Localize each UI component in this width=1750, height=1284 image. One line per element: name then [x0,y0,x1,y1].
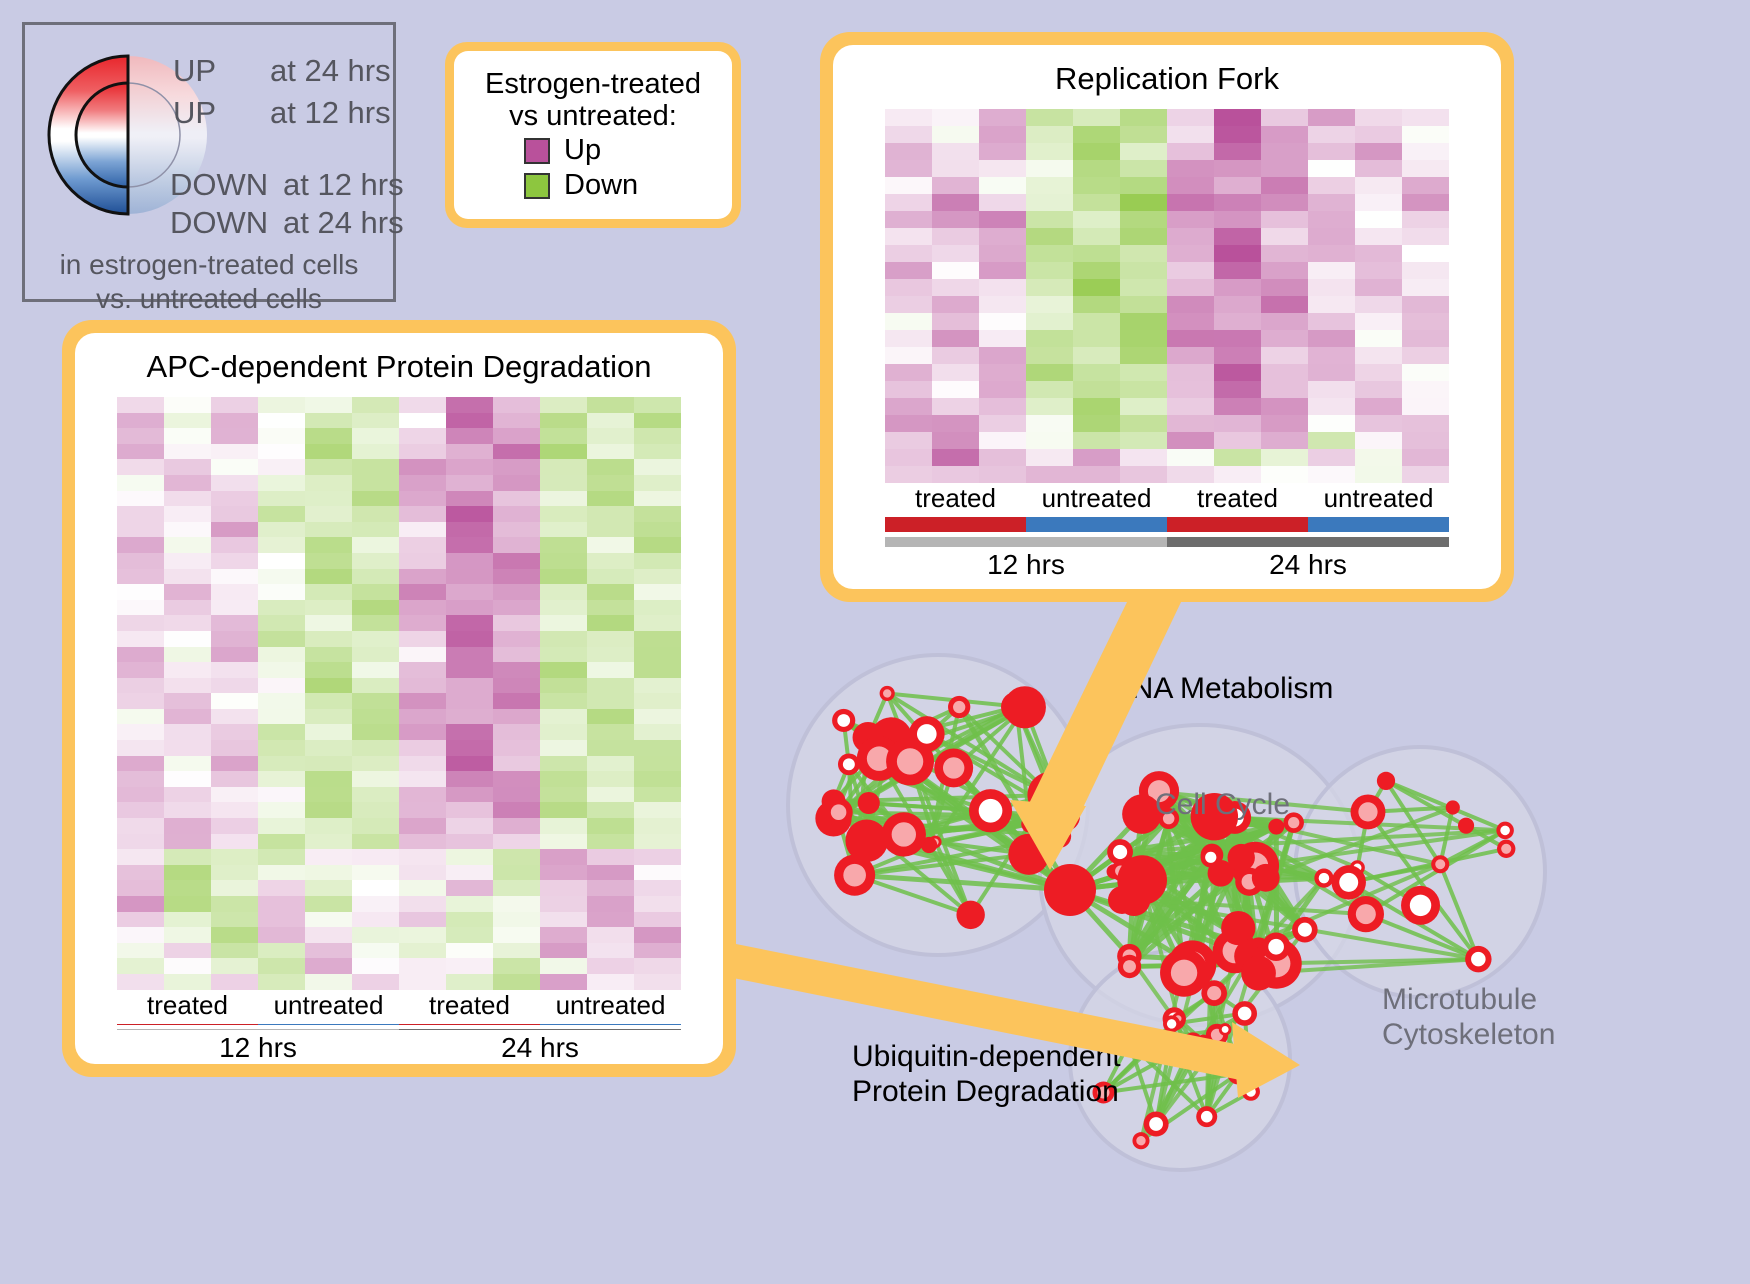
heatmap-cell [493,709,540,725]
heatmap-cell [634,865,681,881]
heatmap-cell [634,740,681,756]
heatmap-cell [446,974,493,990]
heatmap-cell [587,974,634,990]
heatmap-cell [587,647,634,663]
heatmap-cell [446,927,493,943]
heatmap-cell [1026,211,1073,228]
panel-apc-title: APC-dependent Protein Degradation [147,349,652,385]
time-color-bar [399,1029,681,1030]
heatmap-cell [1308,228,1355,245]
heatmap-cell [540,709,587,725]
time-color-bar [1167,537,1449,547]
network-node-core [1167,1019,1176,1028]
heatmap-cell [493,413,540,429]
heatmap-cell [932,245,979,262]
heatmap-cell [352,397,399,413]
heatmap-cell [1167,211,1214,228]
network-node[interactable] [1048,825,1071,848]
network-node[interactable] [1458,818,1474,834]
cluster-label-line: Microtubule [1382,983,1555,1018]
heatmap-cell [446,771,493,787]
heatmap-cell [1026,228,1073,245]
heatmap-cell [399,413,446,429]
heatmap-cell [1073,279,1120,296]
heatmap-cell [446,756,493,772]
heatmap-cell [1073,381,1120,398]
heatmap-cell [1402,143,1449,160]
heatmap-cell [1073,466,1120,483]
legend-row-0-time: at 24 hrs [270,53,391,89]
heatmap-cell [399,491,446,507]
heatmap-cell [540,522,587,538]
heatmap-cell [117,459,164,475]
group-color-bar [540,1024,681,1025]
heatmap-cell [1167,466,1214,483]
heatmap-cell [634,693,681,709]
heatmap-cell [352,584,399,600]
network-node[interactable] [845,820,887,862]
heatmap-cell [399,818,446,834]
heatmap-cell [1120,296,1167,313]
heatmap-cell [258,912,305,928]
network-node-core [1246,1087,1256,1097]
group-label: untreated [1308,483,1449,514]
heatmap-cell [493,849,540,865]
heatmap-cell [493,662,540,678]
heatmap-cell [305,787,352,803]
heatmap-cell [932,126,979,143]
heatmap-cell [932,364,979,381]
heatmap-cell [305,958,352,974]
heatmap-cell [117,569,164,585]
heatmap-cell [885,211,932,228]
heatmap-cell [117,537,164,553]
heatmap-cell [258,709,305,725]
heatmap-cell [587,522,634,538]
heatmap-cell [305,522,352,538]
heatmap-cell [1308,160,1355,177]
heatmap-cell [305,537,352,553]
heatmap-cell [164,756,211,772]
heatmap-cell [932,211,979,228]
heatmap-cell [1402,415,1449,432]
heatmap-cell [164,647,211,663]
heatmap-cell [493,569,540,585]
network-node-core [1123,960,1136,973]
heatmap-cell [117,678,164,694]
heatmap-cell [493,943,540,959]
heatmap-cell [1120,160,1167,177]
heatmap-cell [634,522,681,538]
heatmap-cell [1308,177,1355,194]
heatmap-cell [1026,296,1073,313]
network-node-core [1136,1136,1145,1145]
heatmap-cell [305,849,352,865]
heatmap-cell [634,413,681,429]
heatmap-cell [117,709,164,725]
heatmap-cell [1402,262,1449,279]
heatmap-cell [540,912,587,928]
network-node[interactable] [1377,772,1395,790]
heatmap-cell [258,724,305,740]
heatmap-cell [1402,211,1449,228]
heatmap-cell [1402,432,1449,449]
heatmap-cell [979,194,1026,211]
heatmap-cell [164,771,211,787]
heatmap-cell [540,943,587,959]
heatmap-cell [399,537,446,553]
heatmap-cell [1402,160,1449,177]
cluster-label-line: Cytoskeleton [1382,1018,1555,1053]
heatmap-cell [305,475,352,491]
network-node-core [917,724,937,744]
heatmap-cell [587,896,634,912]
heatmap-cell [399,880,446,896]
heatmap-cell [493,693,540,709]
network-node[interactable] [858,792,880,814]
heatmap-cell [211,802,258,818]
heatmap-cell [1026,432,1073,449]
heatmap-cell [164,522,211,538]
heatmap-cell [1073,330,1120,347]
heatmap-cell [587,428,634,444]
heatmap-cell [1308,347,1355,364]
heatmap-cell [1308,262,1355,279]
network-node-core [892,822,916,846]
heatmap-cell [117,475,164,491]
heatmap-cell [493,631,540,647]
heatmap-cell [117,631,164,647]
heatmap-cell [540,615,587,631]
network-node[interactable] [956,901,984,929]
heatmap-cell [587,615,634,631]
heatmap-cell [1402,228,1449,245]
heatmap-cell [399,740,446,756]
heatmap-cell [1167,194,1214,211]
heatmap-cell [305,678,352,694]
heatmap-cell [352,880,399,896]
heatmap-cell [1167,262,1214,279]
heatmap-cell [587,569,634,585]
heatmap-cell [540,397,587,413]
heatmap-cell [493,865,540,881]
heatmap-cell [164,678,211,694]
heatmap-cell [446,459,493,475]
heatmap-cell [352,865,399,881]
heatmap-cell [305,974,352,990]
heatmap-cell [1120,313,1167,330]
heatmap-cell [211,740,258,756]
heatmap-cell [540,849,587,865]
heatmap-cell [258,974,305,990]
heatmap-cell [1073,177,1120,194]
heatmap-cell [399,756,446,772]
heatmap-cell [1355,449,1402,466]
heatmap-cell [634,974,681,990]
heatmap-cell [211,491,258,507]
heatmap-cell [587,600,634,616]
heatmap-cell [117,880,164,896]
heatmap-cell [1261,194,1308,211]
heatmap-cell [1308,364,1355,381]
heatmap-cell [1308,296,1355,313]
heatmap-cell [634,834,681,850]
heatmap-replication-group-labels: treateduntreatedtreateduntreated [885,483,1449,514]
panel-replication-fork: Replication Fork treateduntreatedtreated… [820,32,1514,602]
network-node[interactable] [1252,864,1280,892]
heatmap-cell [352,771,399,787]
heatmap-cell [540,958,587,974]
heatmap-cell [258,506,305,522]
heatmap-cell [305,631,352,647]
heatmap-cell [1402,313,1449,330]
heatmap-cell [164,506,211,522]
heatmap-cell [1308,466,1355,483]
heatmap-cell [258,756,305,772]
network-node-core [1501,844,1511,854]
heatmap-cell [1355,347,1402,364]
heatmap-cell [117,802,164,818]
heatmap-cell [1214,398,1261,415]
heatmap-cell [352,428,399,444]
heatmap-cell [446,943,493,959]
up-color-swatch [524,138,550,164]
heatmap-apc-group-bars [117,1024,681,1025]
heatmap-cell [1026,177,1073,194]
heatmap-cell [211,771,258,787]
heatmap-cell [446,475,493,491]
network-node-core [1358,802,1377,821]
heatmap-cell [979,415,1026,432]
heatmap-cell [117,724,164,740]
heatmap-cell [979,449,1026,466]
network-node[interactable] [1004,686,1046,728]
heatmap-cell [117,896,164,912]
legend-circle-box: UP at 24 hrs UP at 12 hrs DOWN at 12 hrs… [22,22,396,302]
heatmap-cell [540,491,587,507]
heatmap-cell [540,444,587,460]
heatmap-cell [1073,449,1120,466]
heatmap-cell [1261,279,1308,296]
heatmap-cell [305,865,352,881]
network-node-core [1500,826,1510,836]
heatmap-cell [979,126,1026,143]
network-node-core [1205,852,1216,863]
heatmap-cell [1026,313,1073,330]
heatmap-cell [258,865,305,881]
heatmap-cell [1167,109,1214,126]
heatmap-cell [1261,466,1308,483]
heatmap-cell [211,818,258,834]
heatmap-cell [446,693,493,709]
heatmap-cell [1308,126,1355,143]
network-node[interactable] [1108,886,1136,914]
heatmap-cell [258,428,305,444]
legend-item-up-label: Up [564,134,601,167]
heatmap-cell [446,724,493,740]
heatmap-cell [1214,364,1261,381]
heatmap-cell [117,756,164,772]
heatmap-cell [1167,160,1214,177]
heatmap-cell [446,740,493,756]
heatmap-cell [587,631,634,647]
heatmap-cell [634,553,681,569]
updown-legend-title: Estrogen-treated vs untreated: [485,68,701,133]
heatmap-cell [932,279,979,296]
heatmap-cell [117,600,164,616]
heatmap-cell [352,413,399,429]
heatmap-cell [258,537,305,553]
heatmap-cell [587,678,634,694]
heatmap-cell [1073,364,1120,381]
heatmap-cell [979,313,1026,330]
heatmap-cell [352,787,399,803]
network-node[interactable] [1044,864,1096,916]
heatmap-cell [1214,432,1261,449]
group-color-bar [1308,517,1449,532]
heatmap-cell [352,444,399,460]
time-label: 12 hrs [117,1032,399,1064]
heatmap-cell [932,330,979,347]
heatmap-cell [1026,262,1073,279]
heatmap-cell [117,834,164,850]
legend-row-2-label: DOWN [170,167,268,203]
heatmap-cell [1308,194,1355,211]
heatmap-cell [1261,296,1308,313]
heatmap-cell [587,475,634,491]
heatmap-cell [352,912,399,928]
heatmap-cell [352,896,399,912]
heatmap-cell [932,228,979,245]
heatmap-cell [493,818,540,834]
heatmap-cell [446,662,493,678]
heatmap-cell [634,444,681,460]
network-node-core [883,689,891,697]
heatmap-cell [1214,109,1261,126]
network-node-core [1410,895,1431,916]
heatmap-cell [1167,330,1214,347]
heatmap-cell [587,912,634,928]
heatmap-cell [1026,415,1073,432]
network-node-core [1222,1026,1229,1033]
heatmap-cell [1355,228,1402,245]
network-node-core [1207,986,1221,1000]
heatmap-cell [399,943,446,959]
heatmap-cell [1073,262,1120,279]
heatmap-cell [446,834,493,850]
heatmap-cell [258,584,305,600]
heatmap-cell [1261,109,1308,126]
heatmap-cell [587,693,634,709]
heatmap-cell [540,693,587,709]
heatmap-cell [117,428,164,444]
heatmap-cell [979,279,1026,296]
heatmap-cell [634,724,681,740]
heatmap-cell [352,834,399,850]
heatmap-cell [1073,398,1120,415]
heatmap-cell [164,475,211,491]
heatmap-cell [1308,245,1355,262]
heatmap-cell [493,724,540,740]
network-node[interactable] [1446,800,1460,814]
heatmap-cell [885,126,932,143]
heatmap-cell [399,444,446,460]
heatmap-cell [305,600,352,616]
heatmap-cell [1167,126,1214,143]
heatmap-cell [1355,432,1402,449]
network-node-core [1238,1007,1252,1021]
cluster-label-dna-metabolism: DNA Metabolism [1110,672,1333,707]
figure-canvas: UP at 24 hrs UP at 12 hrs DOWN at 12 hrs… [0,0,1750,1279]
heatmap-cell [399,787,446,803]
heatmap-cell [932,143,979,160]
heatmap-cell [164,413,211,429]
network-node[interactable] [1008,834,1049,875]
heatmap-cell [258,600,305,616]
heatmap-cell [587,553,634,569]
heatmap-cell [258,740,305,756]
cluster-label-ubiquitin-degradation: Ubiquitin-dependentProtein Degradation [852,1040,1121,1109]
heatmap-cell [1167,279,1214,296]
heatmap-cell [540,631,587,647]
network-node[interactable] [1241,956,1276,991]
legend-caption-line1: in estrogen-treated cells [25,249,393,281]
heatmap-cell [1214,194,1261,211]
heatmap-cell [258,662,305,678]
group-color-bar [1167,517,1308,532]
heatmap-cell [540,569,587,585]
heatmap-cell [446,787,493,803]
heatmap-cell [258,943,305,959]
heatmap-cell [352,615,399,631]
heatmap-cell [352,678,399,694]
heatmap-cell [399,631,446,647]
heatmap-cell [1120,245,1167,262]
heatmap-cell [211,834,258,850]
heatmap-cell [885,279,932,296]
heatmap-cell [352,709,399,725]
heatmap-cell [305,912,352,928]
heatmap-cell [258,834,305,850]
heatmap-cell [1261,432,1308,449]
heatmap-cell [258,631,305,647]
network-node[interactable] [1027,772,1074,819]
heatmap-cell [493,896,540,912]
heatmap-cell [587,740,634,756]
group-color-bar [885,517,1026,532]
heatmap-cell [493,927,540,943]
heatmap-cell [587,771,634,787]
heatmap-cell [211,569,258,585]
heatmap-cell [540,771,587,787]
heatmap-cell [117,647,164,663]
heatmap-cell [211,709,258,725]
heatmap-cell [305,569,352,585]
heatmap-cell [493,600,540,616]
heatmap-cell [1355,381,1402,398]
heatmap-cell [1214,466,1261,483]
heatmap-cell [634,428,681,444]
heatmap-cell [164,709,211,725]
network-node-core [1319,873,1330,884]
heatmap-cell [1402,398,1449,415]
heatmap-cell [979,245,1026,262]
group-color-bar [258,1024,399,1025]
heatmap-cell [117,958,164,974]
network-node-core [1149,1117,1163,1131]
heatmap-cell [979,432,1026,449]
heatmap-cell [117,818,164,834]
